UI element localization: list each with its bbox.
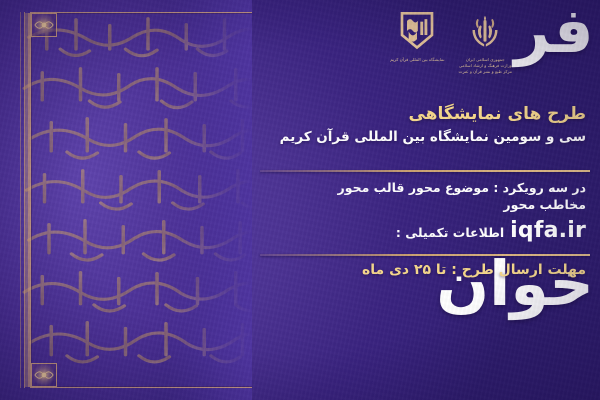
iran-emblem-icon bbox=[459, 10, 513, 54]
headline-block: طرح های نمایشگاهی سی و سومین نمایشگاه بی… bbox=[254, 104, 586, 146]
content-area: جمهوری اسلامی ایران وزارت فرهنگ و ارشاد … bbox=[252, 0, 600, 400]
logo-iran-emblem-caption: جمهوری اسلامی ایران وزارت فرهنگ و ارشاد … bbox=[459, 57, 513, 75]
frame-middle-line bbox=[24, 12, 25, 388]
calligraphy-fade-overlay bbox=[166, 0, 252, 400]
corner-ornament-bottom-left bbox=[31, 363, 57, 387]
logo-quran-exhibition: نمایشگاه بین المللی قرآن کریم bbox=[390, 10, 444, 63]
divider-rule-top bbox=[260, 170, 590, 172]
approach-line-2: مخاطب محور bbox=[250, 197, 586, 214]
poster-root: جمهوری اسلامی ایران وزارت فرهنگ و ارشاد … bbox=[0, 0, 600, 400]
frame-outer-line bbox=[20, 12, 21, 388]
website-url[interactable]: iqfa.ir bbox=[510, 218, 586, 244]
approach-block: در سه رویکرد : موضوع محور قالب محور مخاط… bbox=[250, 180, 586, 244]
more-info-line: iqfa.ir اطلاعات تکمیلی : bbox=[250, 218, 586, 244]
logo-quran-exhibition-caption: نمایشگاه بین المللی قرآن کریم bbox=[390, 57, 444, 63]
approach-line-1: در سه رویکرد : موضوع محور قالب محور bbox=[250, 180, 586, 197]
headline-title: طرح های نمایشگاهی bbox=[254, 104, 586, 126]
headline-subtitle: سی و سومین نمایشگاه بین المللی قرآن کریم bbox=[254, 129, 586, 147]
quran-exhibition-logo-icon bbox=[390, 10, 444, 54]
quran-calligraphy-panel bbox=[0, 0, 252, 400]
deadline-text: مهلت ارسال طرح : تا ۲۵ دی ماه bbox=[250, 262, 586, 278]
big-word-part-top: فر bbox=[514, 2, 594, 59]
logo-iran-emblem: جمهوری اسلامی ایران وزارت فرهنگ و ارشاد … bbox=[459, 10, 513, 75]
logo-row: جمهوری اسلامی ایران وزارت فرهنگ و ارشاد … bbox=[390, 10, 512, 75]
divider-rule-bottom bbox=[260, 254, 590, 256]
more-info-label: اطلاعات تکمیلی : bbox=[396, 225, 504, 240]
corner-ornament-top-left bbox=[31, 13, 57, 37]
